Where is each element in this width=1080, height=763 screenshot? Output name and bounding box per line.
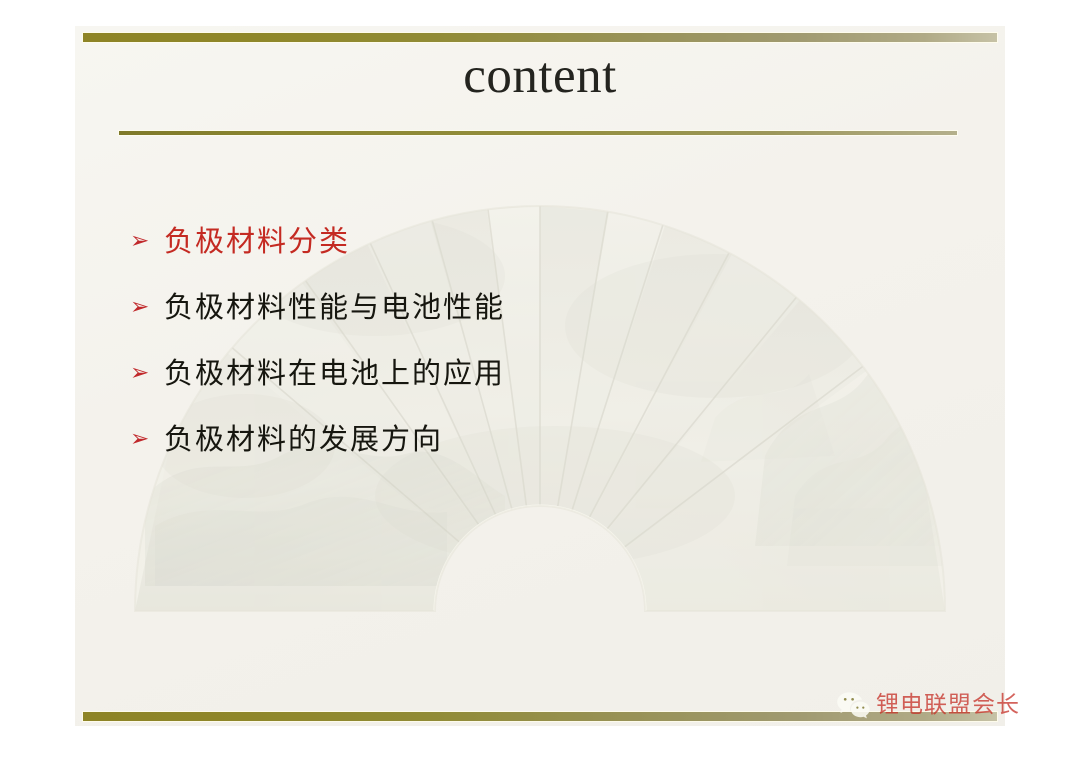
top-gold-bar	[83, 33, 997, 42]
wechat-icon	[836, 690, 870, 720]
list-item[interactable]: ➢ 负极材料在电池上的应用	[130, 340, 830, 406]
arrow-bullet-icon: ➢	[130, 361, 164, 384]
list-item[interactable]: ➢ 负极材料分类	[130, 208, 830, 274]
wechat-watermark-label: 锂电联盟会长	[876, 694, 1020, 717]
arrow-bullet-icon: ➢	[130, 229, 164, 252]
arrow-bullet-icon: ➢	[130, 295, 164, 318]
list-item-label: 负极材料性能与电池性能	[164, 290, 505, 325]
list-item[interactable]: ➢ 负极材料的发展方向	[130, 406, 830, 472]
page-title: content	[75, 50, 1005, 104]
list-item-label: 负极材料的发展方向	[164, 422, 443, 457]
title-divider	[119, 131, 957, 135]
arrow-bullet-icon: ➢	[130, 427, 164, 450]
list-item[interactable]: ➢ 负极材料性能与电池性能	[130, 274, 830, 340]
list-item-label: 负极材料在电池上的应用	[164, 356, 505, 391]
wechat-watermark: 锂电联盟会长	[836, 690, 1020, 720]
slide-canvas: content ➢ 负极材料分类 ➢ 负极材料性能与电池性能 ➢ 负极材料在电池…	[75, 26, 1005, 726]
title-block: content	[75, 50, 1005, 104]
list-item-label: 负极材料分类	[164, 224, 350, 259]
agenda-list: ➢ 负极材料分类 ➢ 负极材料性能与电池性能 ➢ 负极材料在电池上的应用 ➢ 负…	[130, 208, 830, 472]
